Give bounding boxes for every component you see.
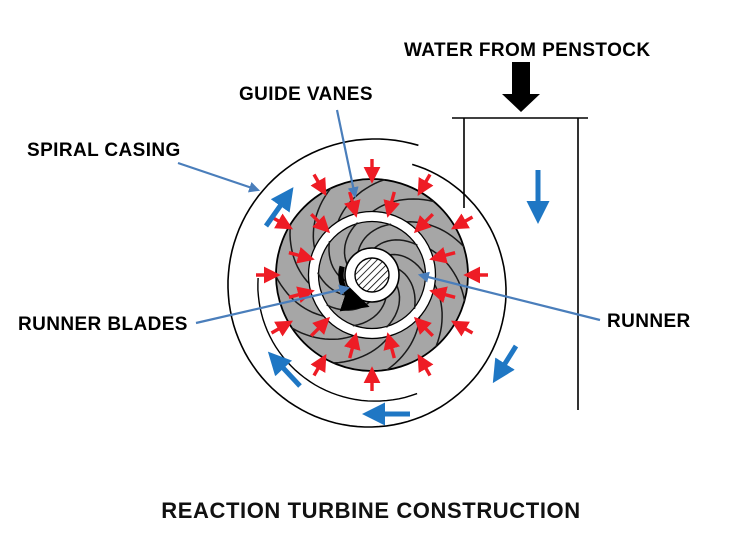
- penstock-channel: [452, 118, 588, 410]
- label-runner-blades: RUNNER BLADES: [18, 314, 188, 335]
- label-spiral-casing: SPIRAL CASING: [27, 140, 181, 161]
- runner-assembly: [276, 179, 468, 371]
- leader-spiral-casing: [178, 163, 258, 190]
- flow-arrow-casing-right-down: [496, 346, 516, 378]
- penstock-walls: [464, 118, 578, 410]
- page-title: REACTION TURBINE CONSTRUCTION: [161, 498, 581, 523]
- reaction-turbine-diagram: SPIRAL CASINGGUIDE VANESWATER FROM PENST…: [0, 0, 741, 548]
- penstock-inlet-arrow-icon: [502, 62, 540, 112]
- diagram-canvas: SPIRAL CASINGGUIDE VANESWATER FROM PENST…: [0, 0, 741, 548]
- label-guide-vanes: GUIDE VANES: [239, 84, 373, 105]
- label-water-from-penstock: WATER FROM PENSTOCK: [404, 40, 651, 61]
- shaft-hub: [355, 258, 389, 292]
- label-runner: RUNNER: [607, 311, 691, 332]
